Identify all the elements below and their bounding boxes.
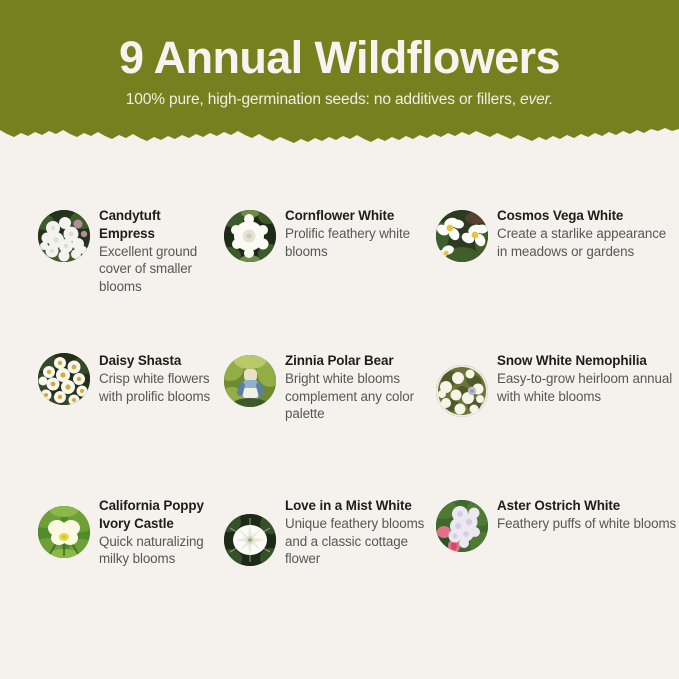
flower-name: Zinnia Polar Bear (285, 352, 430, 370)
flower-description: Easy-to-grow heirloom annual with white … (497, 370, 679, 406)
flower-grid-row: Candytuft Empress Excellent ground cover… (0, 207, 679, 296)
flower-description: Unique feathery blooms and a classic cot… (285, 515, 430, 568)
flower-copy: Daisy Shasta Crisp white flowers with pr… (99, 352, 213, 405)
flower-item-snow-white-nemophilia: Snow White Nemophilia Easy-to-grow heirl… (430, 352, 679, 423)
flower-description: Crisp white flowers with prolific blooms (99, 370, 213, 406)
aster-ostrich-white-photo (436, 500, 488, 552)
zinnia-polar-bear-photo (224, 355, 276, 407)
flower-grid-row: Daisy Shasta Crisp white flowers with pr… (0, 352, 679, 423)
flower-copy: Aster Ostrich White Feathery puffs of wh… (497, 497, 679, 533)
daisy-shasta-photo (38, 353, 90, 405)
flower-item-love-in-a-mist-white: Love in a Mist White Unique feathery blo… (213, 497, 430, 568)
cornflower-white-photo (224, 210, 276, 262)
flower-description: Create a starlike appearance in meadows … (497, 225, 679, 261)
flower-item-daisy-shasta: Daisy Shasta Crisp white flowers with pr… (0, 352, 213, 423)
love-in-a-mist-white-photo (224, 514, 276, 566)
snow-white-nemophilia-photo (436, 365, 488, 417)
flower-name: California Poppy Ivory Castle (99, 497, 213, 533)
flower-copy: Cornflower White Prolific feathery white… (285, 207, 430, 260)
flower-item-california-poppy-ivory-castle: California Poppy Ivory Castle Quick natu… (0, 497, 213, 568)
flower-grid-row: California Poppy Ivory Castle Quick natu… (0, 497, 679, 568)
flower-item-cornflower-white: Cornflower White Prolific feathery white… (213, 207, 430, 296)
flower-copy: Candytuft Empress Excellent ground cover… (99, 207, 213, 296)
candytuft-empress-photo (38, 210, 90, 262)
flower-item-zinnia-polar-bear: Zinnia Polar Bear Bright white blooms co… (213, 352, 430, 423)
flower-copy: California Poppy Ivory Castle Quick natu… (99, 497, 213, 568)
flower-description: Excellent ground cover of smaller blooms (99, 243, 213, 296)
flower-description: Prolific feathery white blooms (285, 225, 430, 261)
wildflower-infographic: 9 Annual Wildflowers 100% pure, high-ger… (0, 0, 679, 679)
california-poppy-ivory-castle-photo (38, 506, 90, 558)
subtitle-main-text: 100% pure, high-germination seeds: no ad… (126, 91, 516, 108)
flower-copy: Cosmos Vega White Create a starlike appe… (497, 207, 679, 260)
flower-name: Snow White Nemophilia (497, 352, 679, 370)
flower-grid: Candytuft Empress Excellent ground cover… (0, 152, 679, 679)
flower-name: Aster Ostrich White (497, 497, 679, 515)
flower-description: Bright white blooms complement any color… (285, 370, 430, 423)
flower-item-candytuft-empress: Candytuft Empress Excellent ground cover… (0, 207, 213, 296)
flower-name: Cosmos Vega White (497, 207, 679, 225)
header-text-block: 9 Annual Wildflowers 100% pure, high-ger… (0, 0, 679, 109)
flower-name: Candytuft Empress (99, 207, 213, 243)
flower-name: Cornflower White (285, 207, 430, 225)
subtitle-italic-text: ever. (520, 91, 553, 108)
flower-description: Quick naturalizing milky blooms (99, 533, 213, 569)
flower-name: Daisy Shasta (99, 352, 213, 370)
page-subtitle: 100% pure, high-germination seeds: no ad… (0, 82, 679, 110)
page-title: 9 Annual Wildflowers (0, 0, 679, 82)
flower-description: Feathery puffs of white blooms (497, 515, 679, 533)
flower-name: Love in a Mist White (285, 497, 430, 515)
flower-item-cosmos-vega-white: Cosmos Vega White Create a starlike appe… (430, 207, 679, 296)
header-banner: 9 Annual Wildflowers 100% pure, high-ger… (0, 0, 679, 152)
flower-copy: Snow White Nemophilia Easy-to-grow heirl… (497, 352, 679, 405)
flower-copy: Love in a Mist White Unique feathery blo… (285, 497, 430, 568)
flower-item-aster-ostrich-white: Aster Ostrich White Feathery puffs of wh… (430, 497, 679, 568)
flower-copy: Zinnia Polar Bear Bright white blooms co… (285, 352, 430, 423)
cosmos-vega-white-photo (436, 210, 488, 262)
